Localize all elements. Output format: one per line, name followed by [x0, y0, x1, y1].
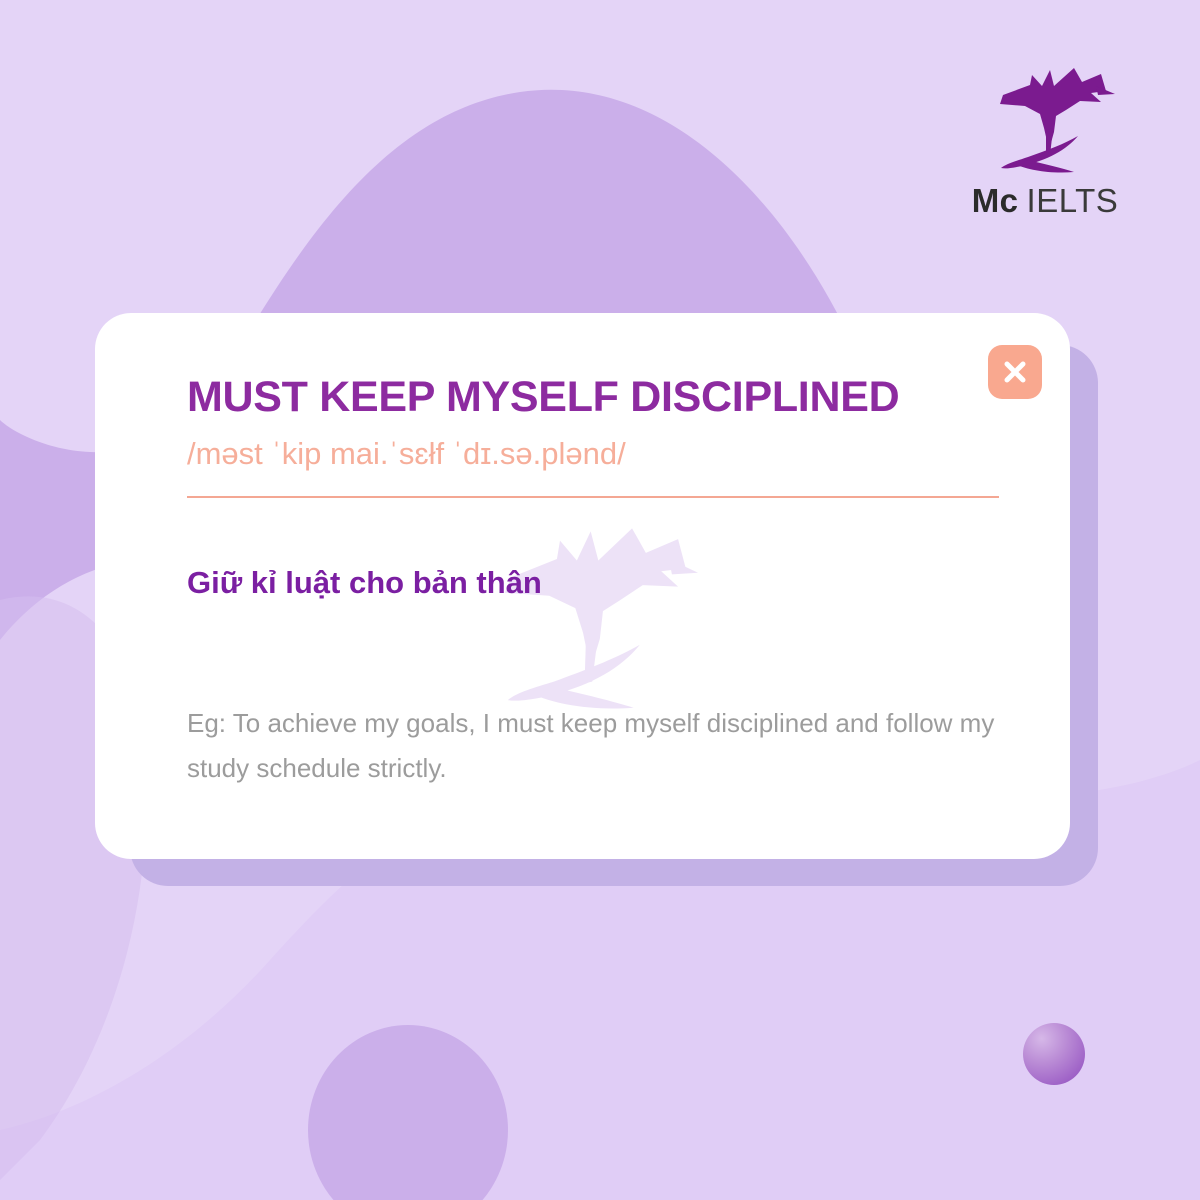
vietnamese-meaning: Giữ kỉ luật cho bản thân [187, 564, 980, 603]
brand-logo-text: McIELTS [972, 184, 1119, 217]
card-content: MUST KEEP MYSELF DISCIPLINED /məst ˈkip … [95, 313, 1070, 859]
section-divider [187, 496, 999, 498]
brand-name-bold: Mc [972, 182, 1019, 219]
headline-phrase: MUST KEEP MYSELF DISCIPLINED [187, 375, 980, 420]
hummingbird-origami-icon [970, 58, 1120, 178]
brand-name-regular: IELTS [1027, 182, 1119, 219]
vocabulary-card: MUST KEEP MYSELF DISCIPLINED /məst ˈkip … [95, 313, 1070, 859]
phonetic-transcription: /məst ˈkip mai.ˈsɛłf ˈdɪ.sə.plənd/ [187, 435, 980, 472]
poster-canvas: McIELTS MUST KEEP MYSELF DISCIPLINED /mə… [0, 0, 1200, 1200]
accent-dot [1023, 1023, 1085, 1085]
example-sentence: Eg: To achieve my goals, I must keep mys… [187, 701, 997, 790]
brand-logo: McIELTS [950, 58, 1140, 233]
